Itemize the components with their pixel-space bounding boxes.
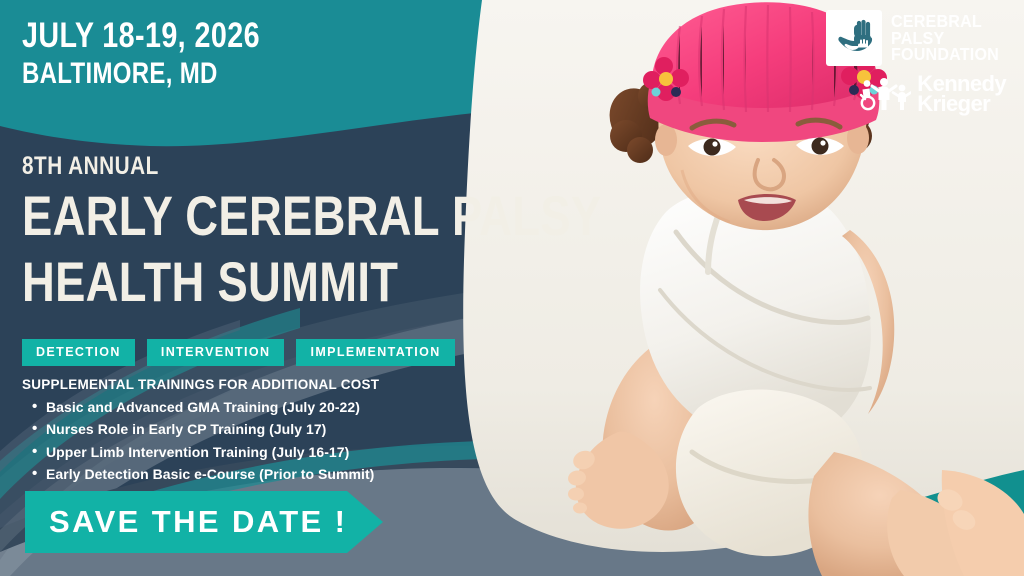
- list-item: Early Detection Basic e-Course (Prior to…: [46, 463, 379, 485]
- save-the-date-banner[interactable]: SAVE THE DATE !: [25, 491, 383, 553]
- badge-implementation: IMPLEMENTATION: [296, 339, 454, 366]
- kennedy-krieger-wordmark: Kennedy Krieger: [917, 74, 1006, 114]
- hands-in-hand-icon: [826, 10, 882, 66]
- list-item: Nurses Role in Early CP Training (July 1…: [46, 418, 379, 440]
- event-title-line-2: HEALTH SUMMIT: [22, 251, 601, 313]
- event-kicker: 8TH ANNUAL: [22, 152, 616, 181]
- list-item: Basic and Advanced GMA Training (July 20…: [46, 396, 379, 418]
- pillar-badges: DETECTION INTERVENTION IMPLEMENTATION: [22, 339, 455, 366]
- supplemental-heading: SUPPLEMENTAL TRAININGS FOR ADDITIONAL CO…: [22, 377, 379, 392]
- kennedy-krieger-logo[interactable]: Kennedy Krieger: [859, 74, 1006, 114]
- event-date: JULY 18-19, 2026: [22, 18, 260, 55]
- logo-group: CEREBRAL PALSY FOUNDATION: [830, 10, 1008, 114]
- event-location: BALTIMORE, MD: [22, 57, 254, 91]
- three-figures-icon: [859, 77, 911, 111]
- cerebral-palsy-foundation-logo[interactable]: CEREBRAL PALSY FOUNDATION: [826, 10, 1008, 66]
- page-title: 8TH ANNUAL EARLY CEREBRAL PALSY HEALTH S…: [22, 152, 737, 312]
- event-date-location: JULY 18-19, 2026 BALTIMORE, MD: [22, 18, 312, 90]
- badge-detection: DETECTION: [22, 339, 135, 366]
- cpf-line-3: FOUNDATION: [891, 46, 999, 62]
- supplemental-trainings: SUPPLEMENTAL TRAININGS FOR ADDITIONAL CO…: [22, 377, 379, 486]
- event-title-line-1: EARLY CEREBRAL PALSY: [22, 185, 601, 247]
- summit-save-the-date-poster: CEREBRAL PALSY FOUNDATION: [0, 0, 1024, 576]
- cpf-wordmark: CEREBRAL PALSY FOUNDATION: [891, 13, 999, 62]
- list-item: Upper Limb Intervention Training (July 1…: [46, 441, 379, 463]
- save-the-date-label: SAVE THE DATE !: [25, 491, 383, 553]
- supplemental-list: Basic and Advanced GMA Training (July 20…: [22, 396, 379, 486]
- kk-line-2: Krieger: [917, 94, 1006, 114]
- badge-intervention: INTERVENTION: [147, 339, 285, 366]
